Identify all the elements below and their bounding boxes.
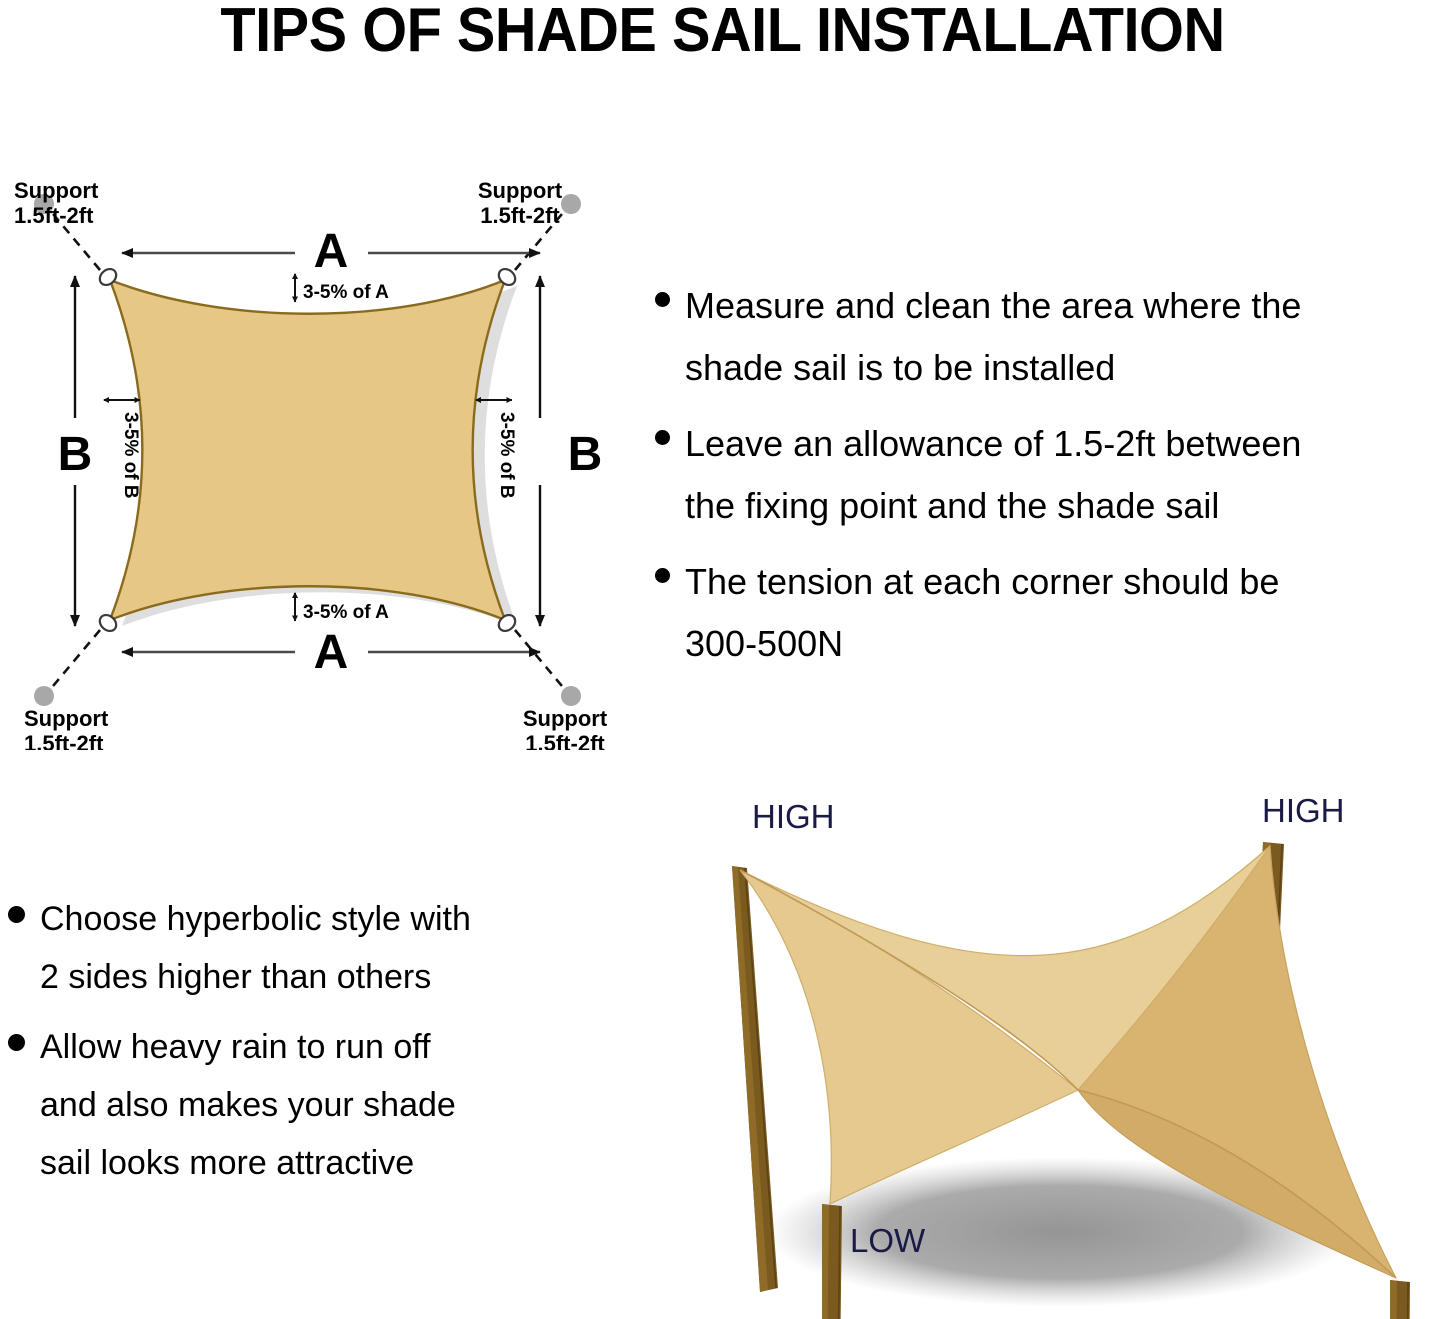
label-low-left: LOW <box>850 1222 926 1259</box>
list-item: Choose hyperbolic style with 2 sides hig… <box>8 890 638 1006</box>
dimension-label-b-right: B <box>568 428 603 481</box>
list-item-text: Leave an allowance of 1.5-2ft between th… <box>685 413 1445 537</box>
support-label-bottom-right-line1: Support <box>523 706 608 731</box>
list-item-line: Choose hyperbolic style with <box>40 890 638 948</box>
support-dot-top-right <box>561 194 581 214</box>
list-item-line: The tension at each corner should be <box>685 551 1445 613</box>
label-high-left: HIGH <box>752 798 835 835</box>
dimension-label-b-left: B <box>58 428 93 481</box>
list-item-line: Measure and clean the area where the <box>685 275 1445 337</box>
post-low-right <box>1390 1280 1410 1319</box>
page-title: TIPS OF SHADE SAIL INSTALLATION <box>51 0 1395 62</box>
list-item: Leave an allowance of 1.5-2ft between th… <box>655 413 1445 537</box>
support-label-bottom-left-line1: Support <box>24 706 109 731</box>
support-label-top-left: Support 1.5ft-2ft <box>14 178 99 228</box>
label-high-right: HIGH <box>1262 792 1345 829</box>
list-item-line: shade sail is to be installed <box>685 337 1445 399</box>
bullet-dot-icon <box>655 430 670 445</box>
shade-sail-shape <box>110 280 505 620</box>
list-item-line: 300-500N <box>685 613 1445 675</box>
support-label-bottom-right: Support 1.5ft-2ft <box>523 706 608 750</box>
list-item-line: 2 sides higher than others <box>40 948 638 1006</box>
rectangular-shade-sail-diagram: A 3-5% of A A 3-5% of A B 3-5% of B B 3-… <box>0 150 660 750</box>
support-label-bottom-right-line2: 1.5ft-2ft <box>525 731 605 750</box>
bullet-dot-icon <box>655 568 670 583</box>
list-item-text: Measure and clean the area where the sha… <box>685 275 1445 399</box>
list-item-line: Leave an allowance of 1.5-2ft between <box>685 413 1445 475</box>
bullet-dot-icon <box>655 292 670 307</box>
support-label-bottom-left: Support 1.5ft-2ft <box>24 706 109 750</box>
list-item: Measure and clean the area where the sha… <box>655 275 1445 399</box>
support-line-bottom-left <box>48 630 100 692</box>
hyperbolic-shade-sail-illustration: HIGH HIGH LOW LOW <box>690 780 1445 1319</box>
list-item-line: the fixing point and the shade sail <box>685 475 1445 537</box>
curve-depth-label-a-top: 3-5% of A <box>303 282 389 303</box>
list-item: The tension at each corner should be 300… <box>655 551 1445 675</box>
support-label-top-left-line1: Support <box>14 178 99 203</box>
list-item-text: Choose hyperbolic style with 2 sides hig… <box>40 890 638 1006</box>
bullet-dot-icon <box>8 1034 25 1051</box>
support-dot-bottom-right <box>561 686 581 706</box>
list-item-line: sail looks more attractive <box>40 1134 638 1192</box>
list-item-text: Allow heavy rain to run off and also mak… <box>40 1018 638 1192</box>
bullet-dot-icon <box>8 906 25 923</box>
support-label-bottom-left-line2: 1.5ft-2ft <box>24 731 104 750</box>
post-high-left <box>732 866 778 1292</box>
support-label-top-right-line2: 1.5ft-2ft <box>480 203 560 228</box>
list-item-text: The tension at each corner should be 300… <box>685 551 1445 675</box>
list-item-line: Allow heavy rain to run off <box>40 1018 638 1076</box>
support-dot-bottom-left <box>34 686 54 706</box>
post-low-left <box>822 1204 842 1319</box>
list-item: Allow heavy rain to run off and also mak… <box>8 1018 638 1192</box>
support-label-top-right: Support 1.5ft-2ft <box>478 178 563 228</box>
support-label-top-left-line2: 1.5ft-2ft <box>14 203 94 228</box>
list-item-line: and also makes your shade <box>40 1076 638 1134</box>
curve-depth-label-b-left: 3-5% of B <box>120 412 141 499</box>
support-line-bottom-right <box>515 630 567 692</box>
support-label-top-right-line1: Support <box>478 178 563 203</box>
dimension-label-a-top: A <box>314 225 349 278</box>
installation-tips-list: Measure and clean the area where the sha… <box>655 275 1445 689</box>
dimension-label-a-bottom: A <box>314 626 349 679</box>
hyperbolic-style-tips-list: Choose hyperbolic style with 2 sides hig… <box>8 890 638 1204</box>
curve-depth-label-b-right: 3-5% of B <box>496 412 517 499</box>
curve-depth-label-a-bottom: 3-5% of A <box>303 602 389 623</box>
